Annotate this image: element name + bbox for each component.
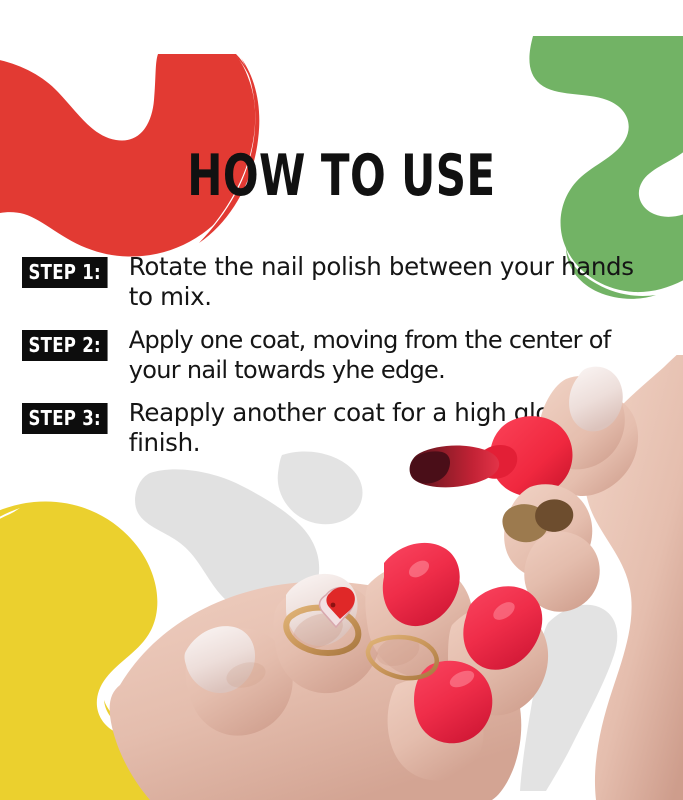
gold-ring-band [368, 637, 437, 678]
step-badge-2: STEP 2: [22, 330, 107, 361]
step-text-3: Reapply another coat for a high gloss fi… [129, 398, 642, 458]
step-item: STEP 2: Apply one coat, moving from the … [22, 325, 642, 385]
painted-nail [463, 586, 542, 670]
step-item: STEP 3: Reapply another coat for a high … [22, 398, 642, 458]
shadow-group [135, 451, 617, 791]
painted-nail [414, 661, 492, 744]
yellow-paint-blob [0, 501, 198, 800]
step-text-1: Rotate the nail polish between your hand… [129, 252, 642, 312]
ring-heart-gem [319, 588, 353, 627]
step-item: STEP 1: Rotate the nail polish between y… [22, 252, 642, 312]
natural-nail [286, 574, 358, 646]
steps-list: STEP 1: Rotate the nail polish between y… [22, 252, 642, 471]
heart-ring [286, 587, 358, 653]
left-hand-with-heart-ring [110, 543, 548, 800]
how-to-use-poster: HOW TO USE STEP 1: Rotate the nail polis… [0, 0, 683, 800]
step-badge-1: STEP 1: [22, 257, 107, 288]
natural-nail [185, 626, 256, 693]
step-text-2: Apply one coat, moving from the center o… [129, 325, 642, 385]
page-title: HOW TO USE [61, 146, 621, 206]
step-badge-3: STEP 3: [22, 403, 107, 434]
painted-nail [383, 543, 460, 626]
